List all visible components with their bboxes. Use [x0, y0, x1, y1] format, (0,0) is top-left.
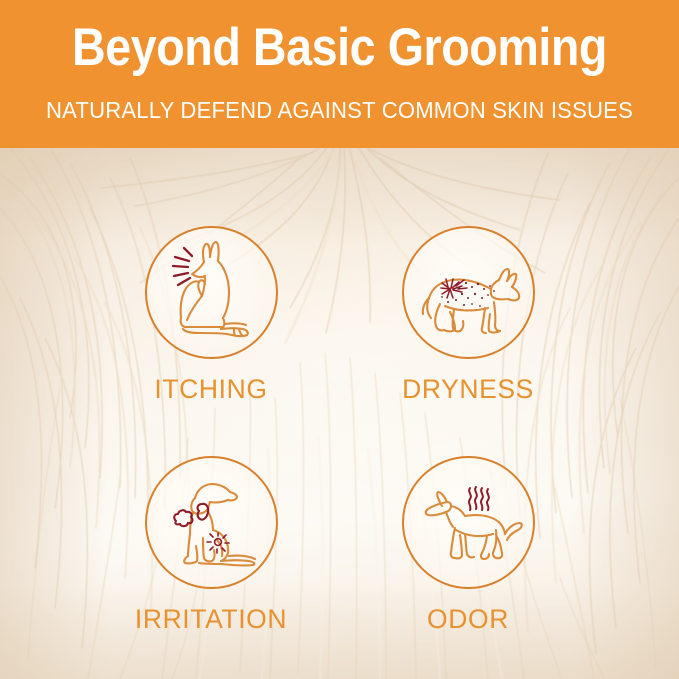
feature-icon-circle — [145, 226, 278, 359]
feature-icon-circle — [402, 456, 535, 589]
feature-icon-circle — [145, 456, 278, 589]
feature-label: ITCHING — [86, 374, 336, 404]
dog-irritated-skin-icon — [147, 458, 280, 591]
feature-item-odor[interactable]: ODOR — [343, 456, 593, 634]
page-title: Beyond Basic Grooming — [41, 18, 639, 78]
feature-grid: ITCHING — [0, 148, 679, 679]
feature-label: ODOR — [343, 604, 593, 634]
dog-scratching-icon — [147, 228, 280, 361]
feature-item-itching[interactable]: ITCHING — [86, 226, 336, 404]
feature-item-dryness[interactable]: DRYNESS — [343, 226, 593, 404]
promo-banner: Beyond Basic Grooming NATURALLY DEFEND A… — [0, 0, 679, 679]
page-subtitle: NATURALLY DEFEND AGAINST COMMON SKIN ISS… — [20, 96, 658, 124]
header-banner: Beyond Basic Grooming NATURALLY DEFEND A… — [0, 0, 679, 148]
feature-icon-circle — [402, 226, 535, 359]
feature-item-irritation[interactable]: IRRITATION — [86, 456, 336, 634]
dog-flaky-skin-icon — [404, 228, 537, 361]
dog-odor-icon — [404, 458, 537, 591]
feature-label: IRRITATION — [86, 604, 336, 634]
feature-label: DRYNESS — [343, 374, 593, 404]
